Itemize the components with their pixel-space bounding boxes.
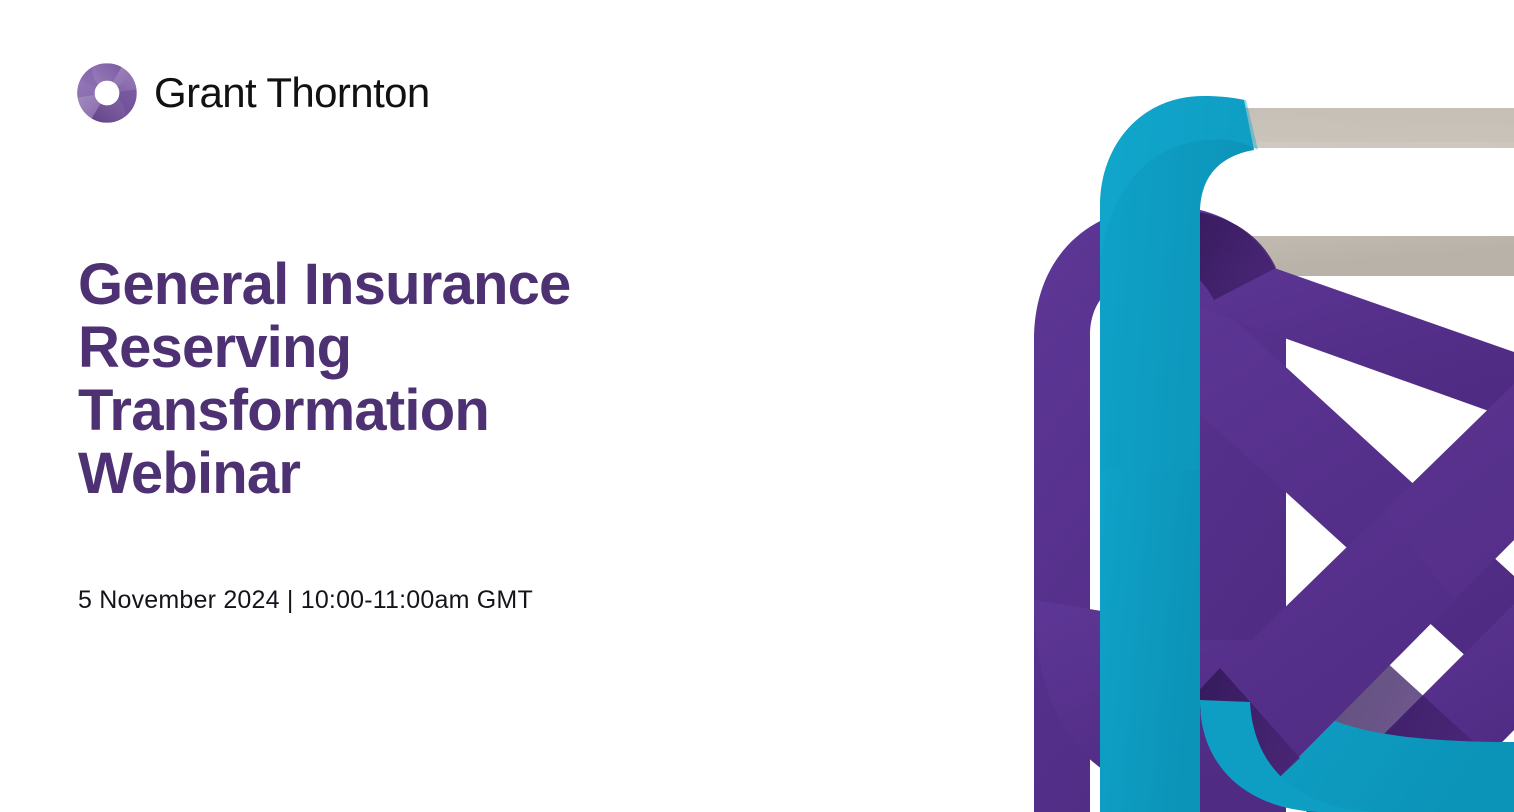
brand-wordmark: Grant Thornton <box>154 72 430 114</box>
page-title: General Insurance Reserving Transformati… <box>78 253 698 505</box>
title-line-1: General Insurance <box>78 253 698 316</box>
title-line-2: Reserving <box>78 316 698 379</box>
purple-ribbon-overlay <box>1190 384 1514 790</box>
teal-ribbon-band <box>1100 96 1514 812</box>
grant-thornton-swirl-icon <box>76 62 138 124</box>
event-datetime: 5 November 2024 | 10:00-11:00am GMT <box>78 586 533 615</box>
brand-logo-lockup: Grant Thornton <box>76 62 430 124</box>
title-line-4: Webinar <box>78 442 698 505</box>
purple-ribbon-band <box>1034 206 1514 812</box>
interlocking-ribbon-graphic <box>914 0 1514 812</box>
teal-ribbon-overlay <box>1100 470 1384 812</box>
beige-ribbon-band <box>1110 108 1514 276</box>
title-line-3: Transformation <box>78 379 698 442</box>
webinar-title-slide: Grant Thornton General Insurance Reservi… <box>0 0 1514 812</box>
